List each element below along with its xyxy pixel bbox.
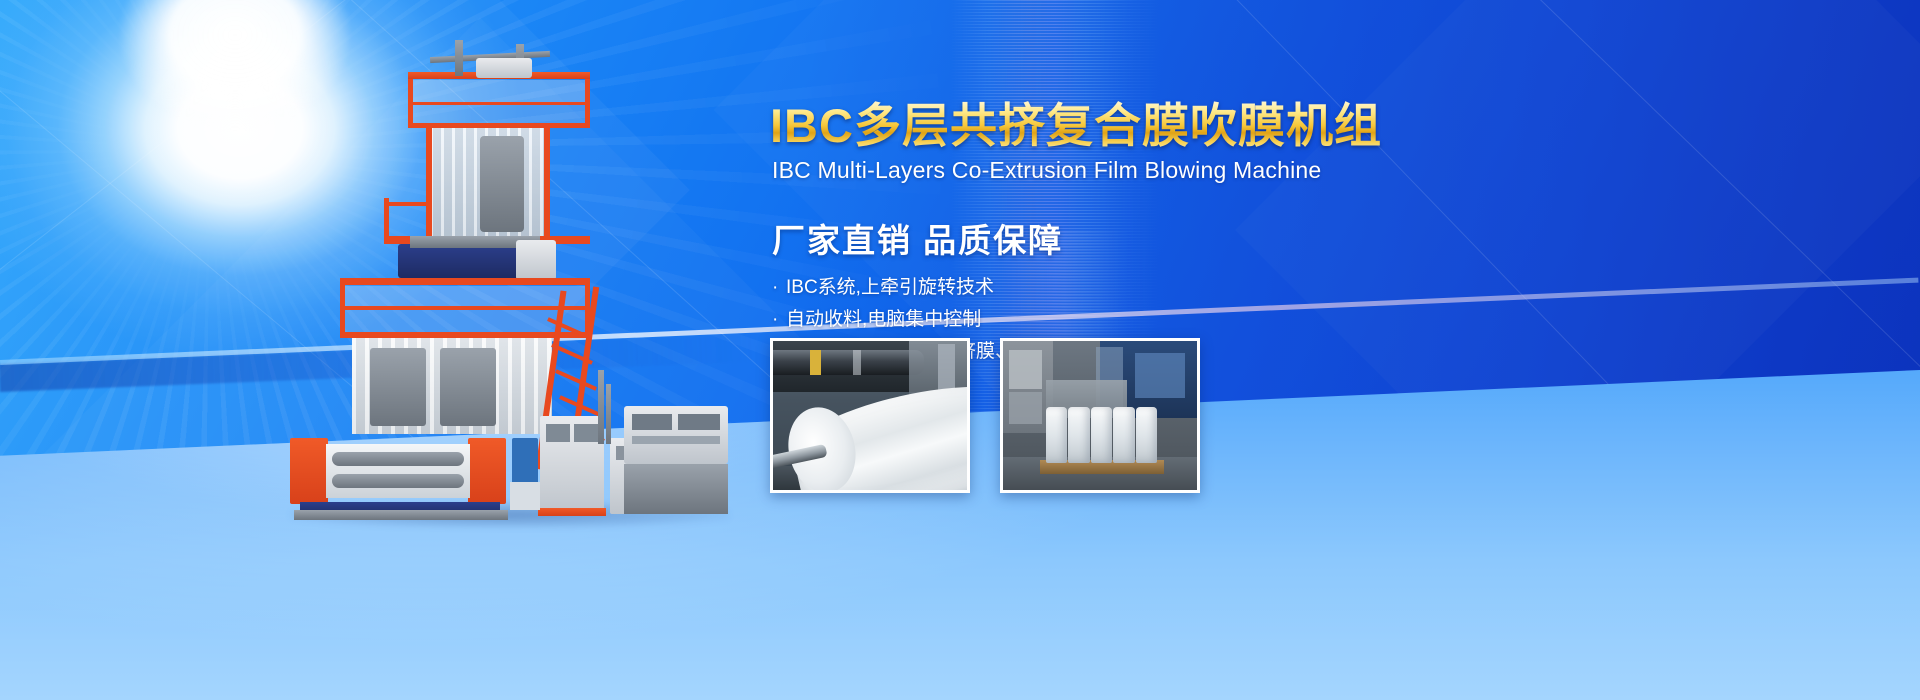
photo-film-roll [1136,407,1157,464]
bullet-dot-icon: · [772,310,786,329]
list-item-label: 自动收料,电脑集中控制 [786,310,981,329]
film-blowing-machine-illustration [280,40,740,520]
photo-film-roll [1046,407,1067,464]
photo-wall-panel [1009,350,1042,389]
photo-film-roll-stack [1046,407,1159,464]
photo-film-roll [1068,407,1089,464]
banner-text-block: IBC多层共挤复合膜吹膜机组 IBC Multi-Layers Co-Extru… [770,100,1470,374]
promo-banner: IBC多层共挤复合膜吹膜机组 IBC Multi-Layers Co-Extru… [0,0,1920,700]
film-roll-photo-content [773,341,967,490]
list-item: · 自动收料,电脑集中控制 [772,310,1470,329]
photo-wall-panel [1009,392,1042,425]
stretch-film-pallet-photo [1000,338,1200,493]
banner-slogan: 厂家直销 品质保障 [772,214,1470,262]
photo-film-roll [1113,407,1134,464]
banner-title-english: IBC Multi-Layers Co-Extrusion Film Blowi… [772,157,1470,184]
photo-machine-detail [1135,353,1185,398]
list-item: · IBC系统,上牵引旋转技术 [772,278,1470,297]
photo-roller [770,350,924,375]
list-item-label: IBC系统,上牵引旋转技术 [786,278,994,297]
stretch-film-pallet-photo-content [1003,341,1197,490]
photo-film-roll [1091,407,1112,464]
film-roll-photo [770,338,970,493]
banner-title-chinese: IBC多层共挤复合膜吹膜机组 [770,100,1470,153]
bullet-dot-icon: · [772,278,786,297]
